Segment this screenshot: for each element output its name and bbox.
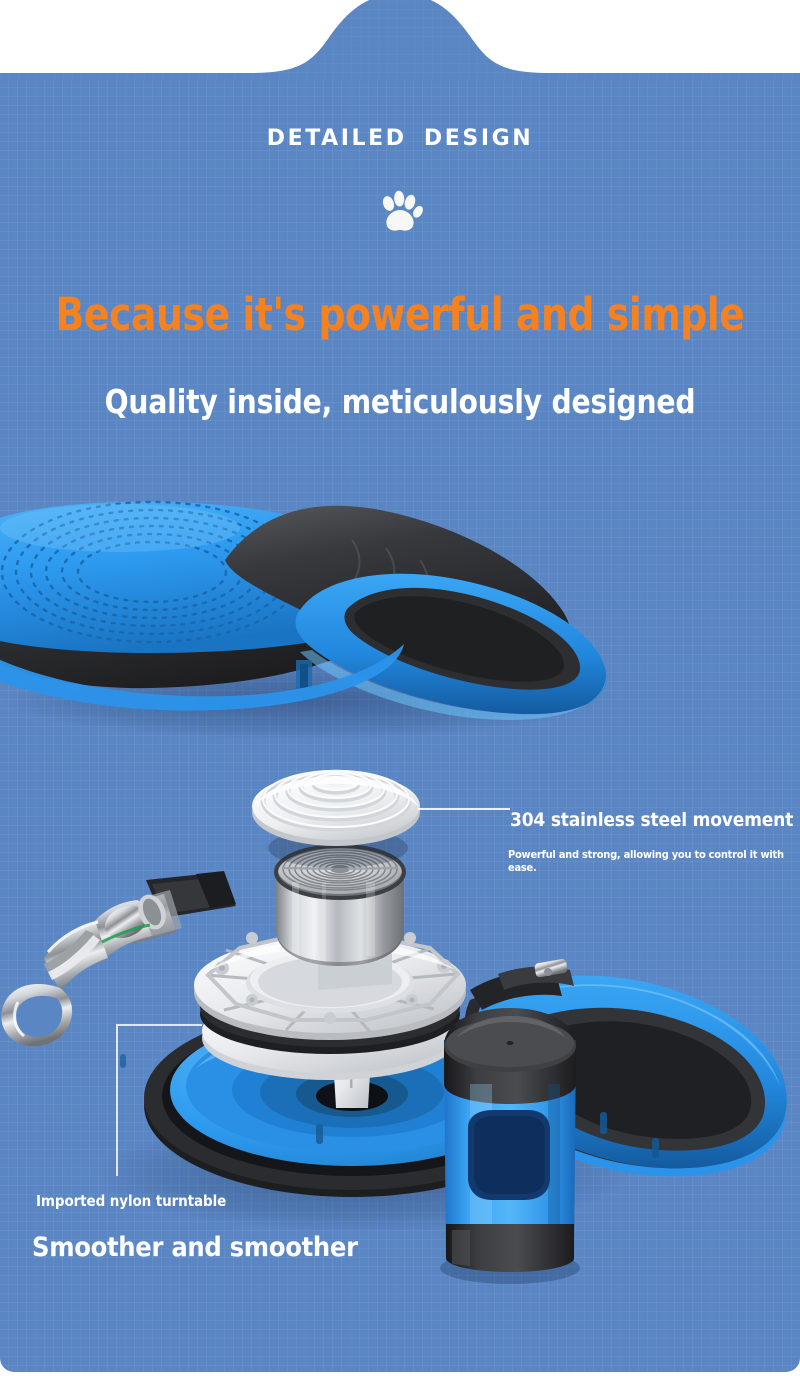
annotation-title-nylon-turntable: Imported nylon turntable <box>36 1192 226 1210</box>
page-headline: Because it's powerful and simple <box>28 288 772 341</box>
top-arch-shape <box>0 0 800 80</box>
blue-background-panel <box>0 73 800 1372</box>
grid-texture <box>0 73 800 1372</box>
leader-line-nylon-turntable <box>116 1024 202 1176</box>
annotation-title-steel-movement: 304 stainless steel movement <box>510 809 793 831</box>
annotation-subtitle-nylon-turntable: Smoother and smoother <box>32 1232 358 1263</box>
page-subheadline: Quality inside, meticulously designed <box>20 382 780 421</box>
paw-print-icon <box>374 186 426 238</box>
annotation-description-steel-movement: Powerful and strong, allowing you to con… <box>508 849 786 875</box>
leader-line-steel-movement <box>418 808 510 810</box>
section-eyebrow: DETAILED DESIGN <box>0 126 800 151</box>
product-detail-page: DETAILED DESIGN Because it's powerful an… <box>0 0 800 1376</box>
